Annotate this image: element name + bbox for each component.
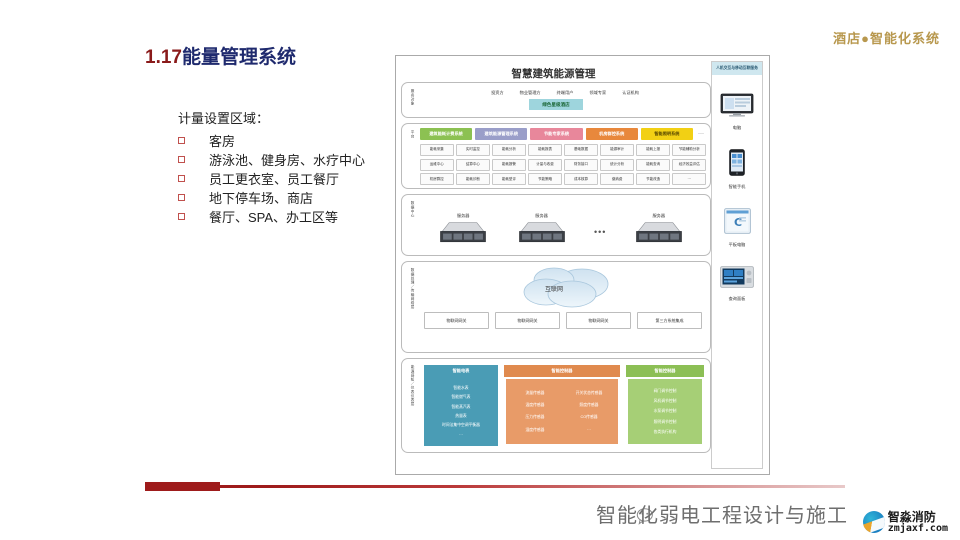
server-label: 服务器 — [516, 213, 568, 219]
function-box[interactable]: 计量与收费 — [528, 159, 562, 171]
device-label: 平板电脑 — [724, 242, 751, 248]
device-item-query-panel[interactable]: 查询面板 — [720, 266, 754, 302]
servers-ellipsis: ••• — [594, 227, 606, 249]
network-panel: 数据处理／传输网络层 互联网 物联网网关 物联网网关 — [401, 261, 711, 353]
function-box[interactable]: 基础数据 — [564, 144, 598, 156]
function-box[interactable]: 经济效益评估 — [672, 159, 706, 171]
function-box[interactable]: ··· — [672, 173, 706, 185]
function-box[interactable]: 节能策略 — [528, 173, 562, 185]
sensing-item: ··· — [459, 433, 463, 438]
list-item: 餐厅、SPA、办工区等 — [178, 207, 365, 226]
sensor-col-left: 流量传感器 温度传感器 压力传感器 湿度传感器 — [508, 383, 562, 440]
service-objects-vlabel: 服务对象 — [405, 89, 415, 105]
device-label: 智能手机 — [729, 184, 746, 190]
system-box[interactable]: 机房群控系统 — [586, 128, 638, 140]
device-item-smartphone[interactable]: 智能手机 — [729, 149, 746, 190]
function-box[interactable]: 结算中心 — [456, 159, 490, 171]
system-box[interactable]: 建筑能源管理系统 — [475, 128, 527, 140]
sensing-item: 智能蒸汽表 — [452, 405, 471, 410]
server-unit: 服务器 — [633, 213, 685, 249]
square-bullet-icon — [178, 137, 185, 144]
sensing-item: 照度传感器 — [580, 403, 599, 408]
service-roles-row: 投资方 物业管理方 终端用户 领域专家 认证机构 — [402, 83, 710, 96]
system-box[interactable]: 建筑能耗计费系统 — [420, 128, 472, 140]
list-item-label: 地下停车场、商店 — [209, 188, 313, 207]
function-box[interactable]: 能耗查询 — [636, 159, 670, 171]
server-label: 服务器 — [633, 213, 685, 219]
gateway-row: 物联网网关 物联网网关 物联网网关 第三方系统集成 — [402, 312, 710, 337]
sensing-item: 压力传感器 — [526, 415, 545, 420]
function-box[interactable]: 实时监控 — [456, 144, 490, 156]
data-center-servers: 服务器 服务器 — [402, 195, 710, 255]
query-panel-icon — [720, 266, 754, 288]
square-bullet-icon — [178, 213, 185, 220]
service-role: 领域专家 — [589, 90, 606, 96]
square-bullet-icon — [178, 175, 185, 182]
service-role: 物业管理方 — [520, 90, 541, 96]
function-box[interactable]: 能源审计 — [600, 144, 634, 156]
data-center-vlabel: 数据中心 — [405, 201, 415, 217]
service-role: 终端用户 — [557, 90, 574, 96]
function-box[interactable]: 能耗采集 — [420, 144, 454, 156]
device-label: 查询面板 — [720, 296, 754, 302]
cloud-icon: 互联网 — [510, 264, 620, 310]
sensing-item: 智能水表 — [453, 386, 468, 391]
sensing-item: 开关状态传感器 — [576, 391, 603, 396]
sensing-item: 阀门调节控制 — [654, 389, 677, 394]
function-box[interactable]: 节能辅助分析 — [672, 144, 706, 156]
gateway-box[interactable]: 物联网网关 — [424, 312, 489, 329]
platform-panel: 平台 建筑能耗计费系统 建筑能源管理系统 节能专家系统 机房群控系统 智能照明系… — [401, 123, 711, 189]
device-item-tablet[interactable]: C 平板电脑 — [724, 208, 751, 248]
list-item: 游泳池、健身房、水疗中心 — [178, 150, 365, 169]
sensing-item: 照明调节控制 — [654, 420, 677, 425]
footer-divider — [145, 485, 845, 488]
diagram-body: 服务对象 投资方 物业管理方 终端用户 领域专家 认证机构 绿色星级酒店 平台 … — [401, 82, 711, 469]
sensing-item: 水泵调节控制 — [654, 409, 677, 414]
bullet-list: 计量设置区域： 客房 游泳池、健身房、水疗中心 员工更衣室、员工餐厅 地下停车场… — [178, 108, 365, 226]
page-title-text: 能量管理系统 — [182, 47, 296, 68]
internet-cloud-wrap: 互联网 — [402, 262, 710, 312]
square-bullet-icon — [178, 194, 185, 201]
function-box[interactable]: 财务接口 — [564, 159, 598, 171]
list-item-label: 员工更衣室、员工餐厅 — [209, 169, 339, 188]
platform-function-grid: 能耗采集 实时监控 能耗分析 能耗报表 基础数据 能源审计 能耗上报 节能辅助分… — [420, 144, 706, 186]
system-box[interactable]: 智能照明系统 — [641, 128, 693, 140]
sensing-item: 智能燃气表 — [452, 395, 471, 400]
site-logo: 智淼消防 zmjaxf.com — [863, 511, 948, 534]
sensing-columns: 智能电表 智能水表 智能燃气表 智能蒸汽表 热量表 时间法集中空调平衡器 ···… — [402, 359, 710, 452]
systems-more-ellipsis[interactable]: ··· — [696, 131, 706, 137]
green-hotel-tag: 绿色星级酒店 — [529, 99, 583, 110]
system-box[interactable]: 节能专家系统 — [530, 128, 582, 140]
list-item-label: 客房 — [209, 131, 235, 150]
list-item-label: 餐厅、SPA、办工区等 — [209, 207, 338, 226]
bullet-list-lead: 计量设置区域： — [178, 108, 365, 127]
tablet-icon: C — [724, 208, 751, 234]
platform-systems-row: 建筑能耗计费系统 建筑能源管理系统 节能专家系统 机房群控系统 智能照明系统 ·… — [420, 128, 706, 140]
platform-vlabel: 平台 — [405, 130, 415, 138]
page-title-number: 1.17 — [145, 47, 182, 68]
service-role: 投资方 — [491, 90, 504, 96]
smartphone-icon — [729, 149, 745, 176]
function-box[interactable]: 能耗报表 — [528, 144, 562, 156]
server-label: 服务器 — [437, 213, 489, 219]
device-label: 电脑 — [720, 125, 754, 131]
function-box[interactable]: 能耗上报 — [636, 144, 670, 156]
function-box[interactable]: 机房群控 — [420, 173, 454, 185]
function-box[interactable]: 能耗分析 — [492, 144, 526, 156]
function-box[interactable]: 能耗诊断 — [456, 173, 490, 185]
sensing-item: 时间法集中空调平衡器 — [442, 423, 480, 428]
sensing-vlabel: 能源感知／仪表仪表层 — [405, 365, 415, 406]
function-box[interactable]: 节能改造 — [636, 173, 670, 185]
sensor-controller-items: 流量传感器 温度传感器 压力传感器 湿度传感器 开关状态传感器 照度传感器 CO… — [506, 379, 618, 444]
service-objects-panel: 服务对象 投资方 物业管理方 终端用户 领域专家 认证机构 绿色星级酒店 — [401, 82, 711, 118]
data-center-panel: 数据中心 服务器 服务器 — [401, 194, 711, 256]
server-icon — [516, 221, 568, 244]
gateway-box[interactable]: 物联网网关 — [495, 312, 560, 329]
function-box[interactable]: 缴纳费 — [600, 173, 634, 185]
function-box[interactable]: 统计分析 — [600, 159, 634, 171]
function-box[interactable]: 运维中心 — [420, 159, 454, 171]
sensing-item: 风机调节控制 — [654, 399, 677, 404]
sensing-item: CO传感器 — [580, 415, 597, 420]
logo-text: 智淼消防 zmjaxf.com — [888, 511, 948, 534]
smart-meter-head: 智能电表 — [424, 365, 498, 377]
actuator-controller-column: 智能控制器 阀门调节控制 风机调节控制 水泵调节控制 照明调节控制 各类执行机构 — [626, 365, 704, 446]
device-sidebar: 人机交互与移动互联服务 电脑 — [711, 61, 763, 469]
smart-meter-items: 智能水表 智能燃气表 智能蒸汽表 热量表 时间法集中空调平衡器 ··· — [424, 377, 498, 446]
sensor-controller-column: 智能控制器 流量传感器 温度传感器 压力传感器 湿度传感器 开关状态传感器 — [504, 365, 620, 446]
sensing-panel: 能源感知／仪表仪表层 智能电表 智能水表 智能燃气表 智能蒸汽表 热量表 时间法… — [401, 358, 711, 453]
server-icon — [437, 221, 489, 244]
slide-brand-header: 酒店●智能化系统 — [833, 28, 940, 47]
gateway-box[interactable]: 第三方系统集成 — [637, 312, 702, 329]
server-unit: 服务器 — [437, 213, 489, 249]
footer-wechat-text: 智能化弱电工程设计与施工 — [596, 499, 848, 528]
service-role: 认证机构 — [622, 90, 639, 96]
sensor-controller-head: 智能控制器 — [504, 365, 620, 377]
page-title: 1.17能量管理系统 — [145, 42, 296, 69]
svg-text:互联网: 互联网 — [545, 285, 563, 293]
function-box[interactable]: 能耗报警 — [492, 159, 526, 171]
server-icon — [633, 221, 685, 244]
function-box[interactable]: 能耗型评 — [492, 173, 526, 185]
function-box[interactable]: 成本核算 — [564, 173, 598, 185]
monitor-icon — [720, 93, 754, 117]
sensing-item: 各类执行机构 — [654, 430, 677, 435]
logo-domain: zmjaxf.com — [888, 524, 948, 535]
server-unit: 服务器 — [516, 213, 568, 249]
actuator-controller-items: 阀门调节控制 风机调节控制 水泵调节控制 照明调节控制 各类执行机构 — [628, 379, 702, 444]
list-item: 地下停车场、商店 — [178, 188, 365, 207]
architecture-diagram: 智慧建筑能源管理 服务对象 投资方 物业管理方 终端用户 领域专家 认证机构 绿… — [395, 55, 770, 475]
sensing-item: 温度传感器 — [526, 403, 545, 408]
sensing-item: ··· — [587, 428, 591, 433]
logo-mark-icon — [863, 511, 885, 533]
sensing-item: 热量表 — [455, 414, 466, 419]
actuator-controller-head: 智能控制器 — [626, 365, 704, 377]
sensor-col-right: 开关状态传感器 照度传感器 CO传感器 ··· — [562, 383, 616, 440]
list-item-label: 游泳池、健身房、水疗中心 — [209, 150, 365, 169]
device-item-computer[interactable]: 电脑 — [720, 93, 754, 131]
smart-meter-column: 智能电表 智能水表 智能燃气表 智能蒸汽表 热量表 时间法集中空调平衡器 ··· — [424, 365, 498, 446]
device-sidebar-head: 人机交互与移动互联服务 — [712, 62, 762, 75]
sensing-item: 流量传感器 — [526, 391, 545, 396]
list-item: 客房 — [178, 131, 365, 150]
gateway-box[interactable]: 物联网网关 — [566, 312, 631, 329]
logo-company-name: 智淼消防 — [888, 511, 948, 524]
square-bullet-icon — [178, 156, 185, 163]
sensing-item: 湿度传感器 — [526, 428, 545, 433]
list-item: 员工更衣室、员工餐厅 — [178, 169, 365, 188]
